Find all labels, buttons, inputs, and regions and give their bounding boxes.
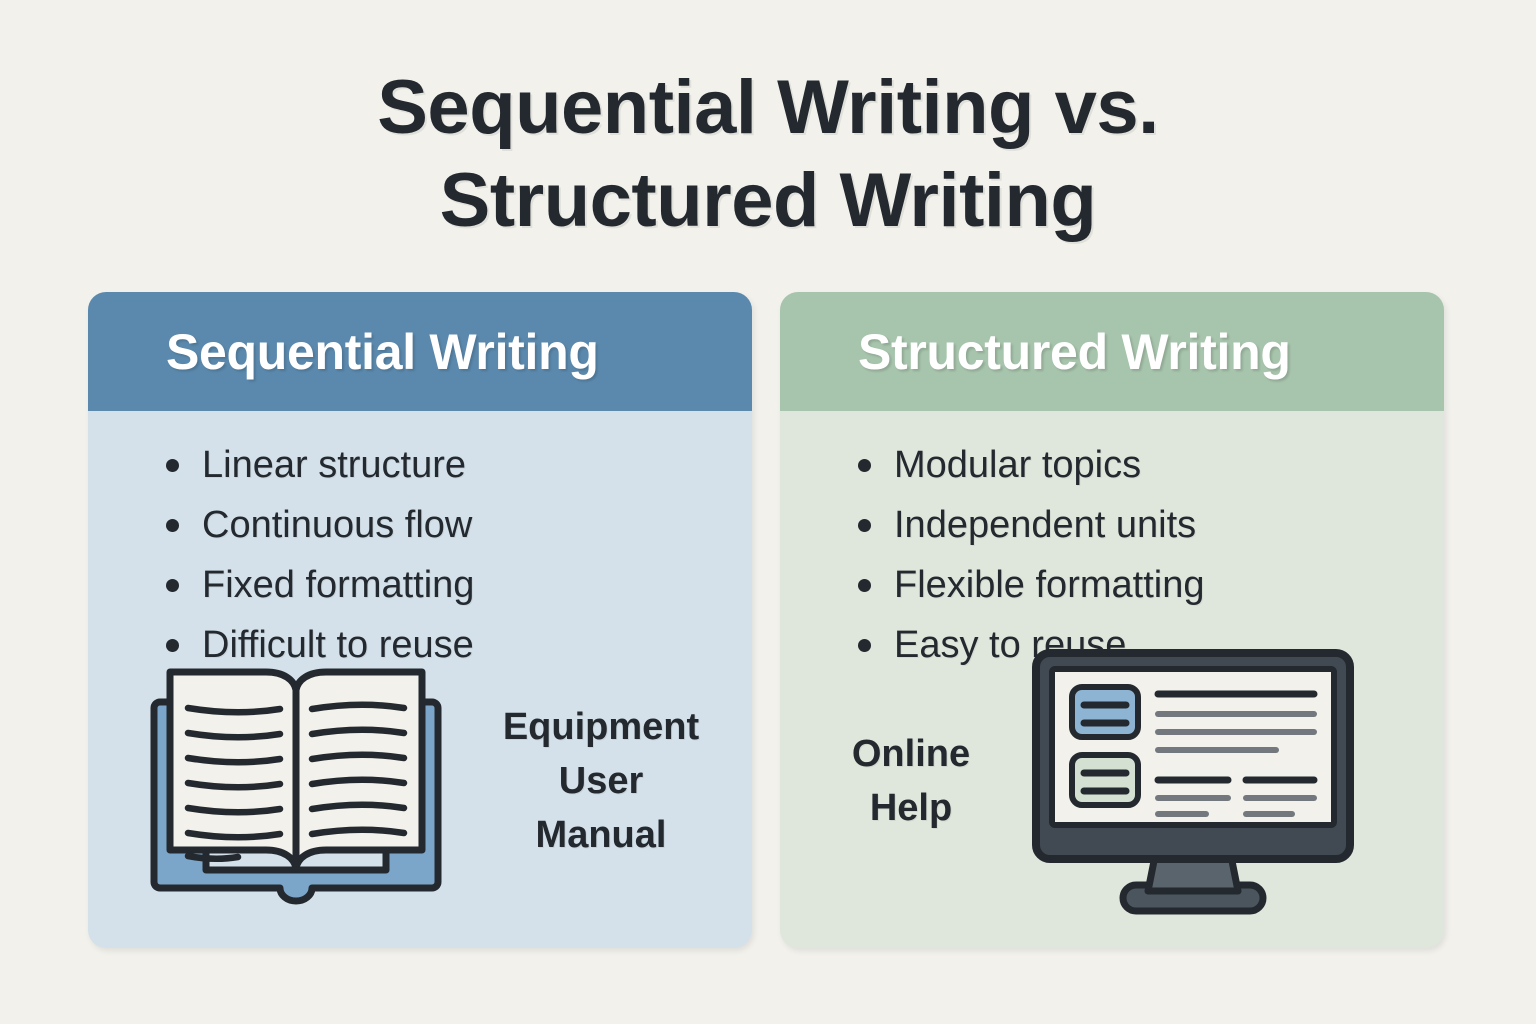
list-item-label: Flexible formatting — [894, 564, 1204, 606]
structured-caption-line-1: Online — [820, 727, 1002, 781]
list-item-label: Modular topics — [894, 444, 1141, 486]
sequential-caption-line-2: User — [470, 754, 732, 808]
bullet-dot-icon — [858, 459, 871, 472]
page-title-line-1: Sequential Writing vs. — [0, 62, 1536, 155]
bullet-dot-icon — [858, 579, 871, 592]
list-item: Continuous flow — [166, 495, 752, 555]
list-item: Modular topics — [858, 435, 1444, 495]
page-title: Sequential Writing vs. Structured Writin… — [0, 62, 1536, 247]
list-item-label: Continuous flow — [202, 504, 472, 546]
card-structured-writing: Structured Writing Modular topics Indepe… — [780, 292, 1444, 948]
sequential-illustration-row: Equipment User Manual — [88, 636, 752, 926]
card-sequential-header: Sequential Writing — [88, 292, 752, 411]
sequential-caption: Equipment User Manual — [470, 700, 732, 862]
bullet-dot-icon — [858, 519, 871, 532]
sequential-caption-line-1: Equipment — [470, 700, 732, 754]
list-item: Flexible formatting — [858, 555, 1444, 615]
infographic-canvas: Sequential Writing vs. Structured Writin… — [0, 0, 1536, 1024]
list-item-label: Independent units — [894, 504, 1196, 546]
open-book-icon — [146, 650, 446, 912]
bullet-dot-icon — [166, 459, 179, 472]
structured-caption: Online Help — [820, 727, 1002, 835]
structured-caption-line-2: Help — [820, 781, 1002, 835]
page-title-line-2: Structured Writing — [0, 155, 1536, 248]
structured-illustration-row: Online Help — [780, 636, 1444, 926]
list-item-label: Fixed formatting — [202, 564, 474, 606]
list-item: Independent units — [858, 495, 1444, 555]
card-structured-header: Structured Writing — [780, 292, 1444, 411]
sequential-caption-line-3: Manual — [470, 808, 732, 862]
list-item-label: Linear structure — [202, 444, 466, 486]
bullet-dot-icon — [166, 579, 179, 592]
list-item: Fixed formatting — [166, 555, 752, 615]
card-sequential-writing: Sequential Writing Linear structure Cont… — [88, 292, 752, 948]
list-item: Linear structure — [166, 435, 752, 495]
bullet-dot-icon — [166, 519, 179, 532]
computer-monitor-icon — [1020, 645, 1366, 917]
